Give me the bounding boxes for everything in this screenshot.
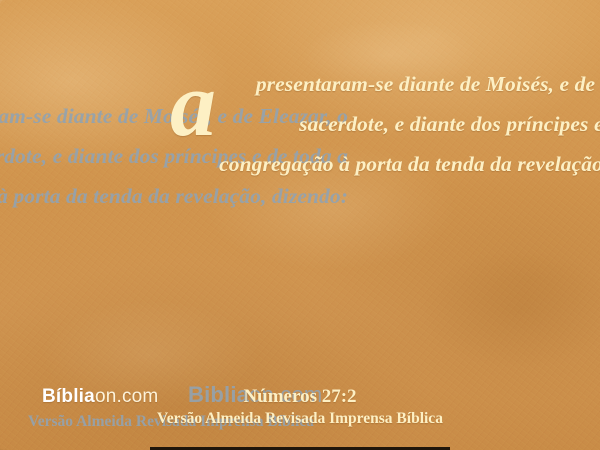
- verse-image-canvas: apresentaram-se diante de Moisés, e de E…: [0, 0, 600, 450]
- verse-dropcap: a: [170, 70, 216, 138]
- texture-blotch-2: [420, 250, 600, 370]
- verse-reference: Números 27:2: [0, 386, 600, 408]
- verse-body: presentaram-se diante de Moisés, e de El…: [219, 72, 600, 176]
- bible-version: Versão Almeida Revisada Imprensa Bíblica: [0, 410, 600, 428]
- verse-text: apresentaram-se diante de Moisés, e de E…: [170, 64, 600, 184]
